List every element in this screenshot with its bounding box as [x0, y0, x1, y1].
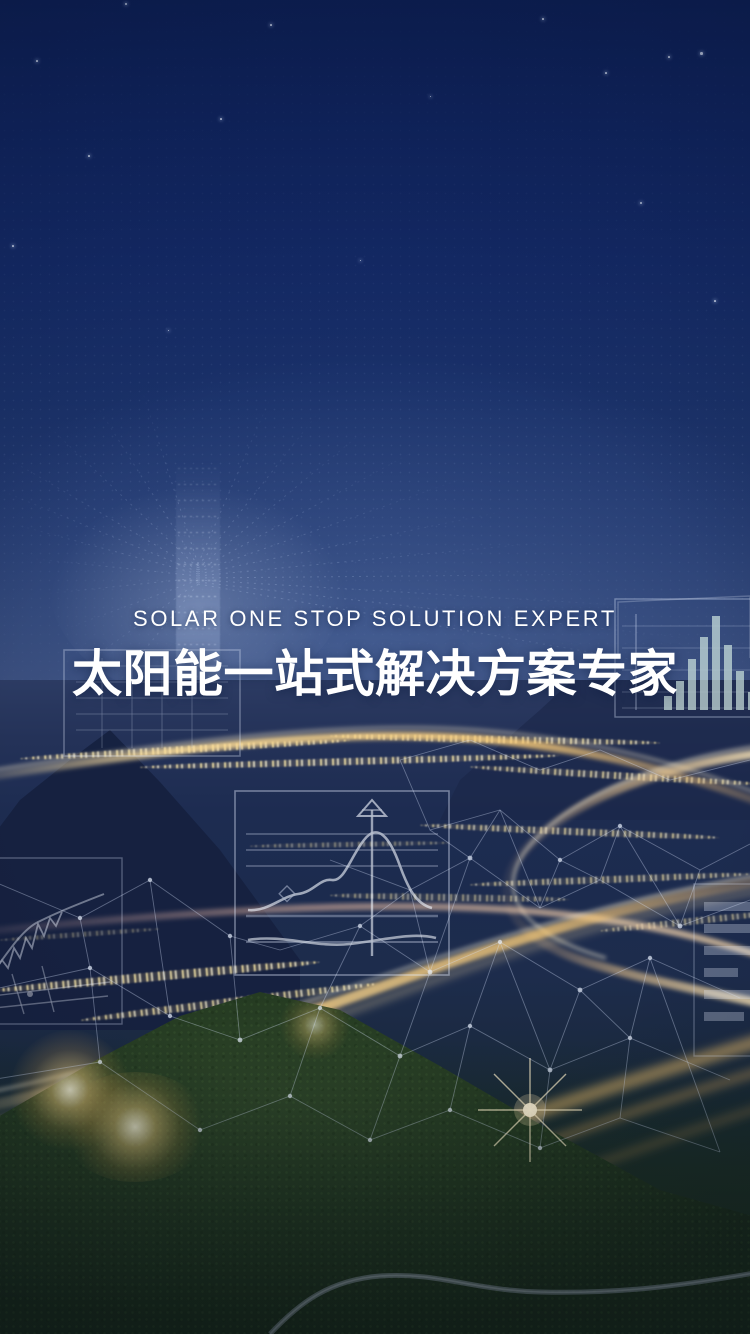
banner-headline: 太阳能一站式解决方案专家	[0, 644, 750, 704]
banner-subtitle: SOLAR ONE STOP SOLUTION EXPERT	[0, 604, 750, 634]
banner-text-block: SOLAR ONE STOP SOLUTION EXPERT 太阳能一站式解决方…	[0, 604, 750, 704]
bottom-darkening-overlay	[0, 1034, 750, 1334]
promo-banner: SOLAR ONE STOP SOLUTION EXPERT 太阳能一站式解决方…	[0, 0, 750, 1334]
